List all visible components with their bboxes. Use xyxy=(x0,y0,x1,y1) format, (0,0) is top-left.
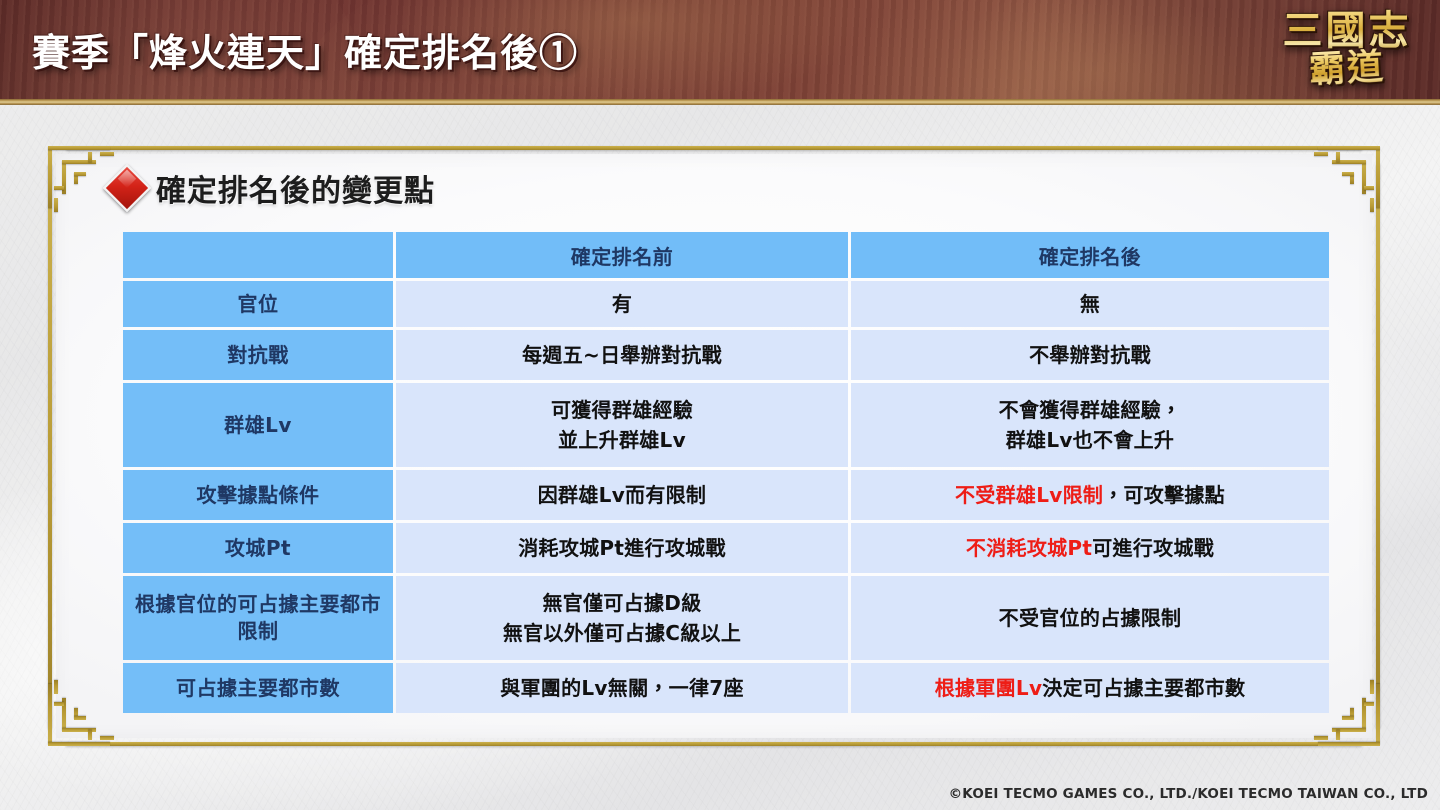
red-diamond-icon xyxy=(103,164,151,212)
row-label-line: 可占據主要都市限制 xyxy=(238,592,382,643)
row-after-cell: 不受官位的占據限制 xyxy=(851,576,1329,660)
cell-text: 因群雄Lv而有限制 xyxy=(538,483,706,507)
cell-line: 不受官位的占據限制 xyxy=(857,603,1323,633)
cell-text: 可進行攻城戰 xyxy=(1092,536,1214,560)
row-after-cell: 不受群雄Lv限制，可攻擊據點 xyxy=(851,470,1329,520)
cell-text: 不舉辦對抗戰 xyxy=(1029,343,1151,367)
cell-text: ，可攻擊據點 xyxy=(1103,483,1225,507)
cell-text: 不會獲得群雄經驗， xyxy=(999,398,1182,422)
banner-texture-swirl xyxy=(820,0,1200,104)
frame-border-right xyxy=(1376,164,1380,728)
cell-line: 與軍團的Lv無關，一律7座 xyxy=(402,673,842,703)
table-row: 官位有無 xyxy=(123,281,1329,327)
highlighted-text: 根據軍團Lv xyxy=(935,676,1043,700)
row-label-cell: 群雄Lv xyxy=(123,383,393,467)
cell-text: 有 xyxy=(612,292,632,316)
cell-line: 不會獲得群雄經驗， xyxy=(857,395,1323,425)
table-header-cell-after: 確定排名後 xyxy=(851,232,1329,278)
cell-line: 有 xyxy=(402,289,842,319)
cell-line: 群雄Lv也不會上升 xyxy=(857,425,1323,455)
table-body: 官位有無對抗戰每週五~日舉辦對抗戰不舉辦對抗戰群雄Lv可獲得群雄經驗並上升群雄L… xyxy=(123,281,1329,713)
table-row: 可占據主要都市數與軍團的Lv無關，一律7座根據軍團Lv決定可占據主要都市數 xyxy=(123,663,1329,713)
row-before-cell: 消耗攻城Pt進行攻城戰 xyxy=(396,523,848,573)
row-label-line: 根據官位的 xyxy=(135,592,238,616)
row-after-cell: 不消耗攻城Pt可進行攻城戰 xyxy=(851,523,1329,573)
section-heading: 確定排名後的變更點 xyxy=(110,166,435,210)
row-after-cell: 無 xyxy=(851,281,1329,327)
cell-text: 群雄Lv也不會上升 xyxy=(1006,428,1174,452)
row-label-cell: 攻擊據點條件 xyxy=(123,470,393,520)
row-before-cell: 可獲得群雄經驗並上升群雄Lv xyxy=(396,383,848,467)
cell-text: 與軍團的Lv無關，一律7座 xyxy=(500,676,744,700)
row-before-cell: 無官僅可占據D級無官以外僅可占據C級以上 xyxy=(396,576,848,660)
row-after-cell: 不會獲得群雄經驗，群雄Lv也不會上升 xyxy=(851,383,1329,467)
cell-line: 不消耗攻城Pt可進行攻城戰 xyxy=(857,533,1323,563)
row-after-cell: 根據軍團Lv決定可占據主要都市數 xyxy=(851,663,1329,713)
page-title: 賽季「烽火連天」確定排名後① xyxy=(32,22,578,77)
table-header-row: 確定排名前 確定排名後 xyxy=(123,232,1329,278)
cell-line: 不舉辦對抗戰 xyxy=(857,340,1323,370)
table-row: 攻擊據點條件因群雄Lv而有限制不受群雄Lv限制，可攻擊據點 xyxy=(123,470,1329,520)
cell-line: 可獲得群雄經驗 xyxy=(402,395,842,425)
table-row: 對抗戰每週五~日舉辦對抗戰不舉辦對抗戰 xyxy=(123,330,1329,380)
cell-text: 可獲得群雄經驗 xyxy=(551,398,693,422)
cell-line: 根據軍團Lv決定可占據主要都市數 xyxy=(857,673,1323,703)
cell-text: 無官僅可占據D級 xyxy=(542,591,701,615)
table-head: 確定排名前 確定排名後 xyxy=(123,232,1329,278)
row-label-cell: 對抗戰 xyxy=(123,330,393,380)
highlighted-text: 不消耗攻城Pt xyxy=(966,536,1092,560)
brand-logo-sub-text: 霸道 xyxy=(1271,46,1423,90)
comparison-table: 確定排名前 確定排名後 官位有無對抗戰每週五~日舉辦對抗戰不舉辦對抗戰群雄Lv可… xyxy=(120,229,1332,716)
cell-line: 並上升群雄Lv xyxy=(402,425,842,455)
corner-ornament-bottom-left xyxy=(48,680,124,746)
header-gold-divider xyxy=(0,99,1440,105)
row-before-cell: 有 xyxy=(396,281,848,327)
corner-ornament-top-right xyxy=(1304,146,1380,212)
slide-root: 賽季「烽火連天」確定排名後① 三國志 霸道 xyxy=(0,0,1440,810)
cell-text: 決定可占據主要都市數 xyxy=(1042,676,1245,700)
table-row: 根據官位的可占據主要都市限制無官僅可占據D級無官以外僅可占據C級以上不受官位的占… xyxy=(123,576,1329,660)
row-before-cell: 因群雄Lv而有限制 xyxy=(396,470,848,520)
table-header-cell-blank xyxy=(123,232,393,278)
cell-line: 因群雄Lv而有限制 xyxy=(402,480,842,510)
section-heading-label: 確定排名後的變更點 xyxy=(156,166,435,210)
cell-line: 每週五~日舉辦對抗戰 xyxy=(402,340,842,370)
frame-border-left xyxy=(48,164,52,728)
copyright-notice: ©KOEI TECMO GAMES CO., LTD./KOEI TECMO T… xyxy=(949,786,1428,802)
row-before-cell: 與軍團的Lv無關，一律7座 xyxy=(396,663,848,713)
row-label-cell: 根據官位的可占據主要都市限制 xyxy=(123,576,393,660)
cell-text: 每週五~日舉辦對抗戰 xyxy=(522,343,722,367)
brand-logo-main-text: 三國志 xyxy=(1272,2,1422,52)
table-row: 群雄Lv可獲得群雄經驗並上升群雄Lv不會獲得群雄經驗，群雄Lv也不會上升 xyxy=(123,383,1329,467)
brand-logo: 三國志 霸道 xyxy=(1272,2,1422,128)
row-label-cell: 攻城Pt xyxy=(123,523,393,573)
frame-border-top xyxy=(66,146,1362,150)
cell-line: 消耗攻城Pt進行攻城戰 xyxy=(402,533,842,563)
cell-text: 無官以外僅可占據C級以上 xyxy=(503,621,741,645)
row-label-cell: 可占據主要都市數 xyxy=(123,663,393,713)
row-after-cell: 不舉辦對抗戰 xyxy=(851,330,1329,380)
table-row: 攻城Pt消耗攻城Pt進行攻城戰不消耗攻城Pt可進行攻城戰 xyxy=(123,523,1329,573)
cell-text: 消耗攻城Pt進行攻城戰 xyxy=(518,536,726,560)
cell-line: 無官僅可占據D級 xyxy=(402,588,842,618)
cell-text: 不受官位的占據限制 xyxy=(999,606,1182,630)
cell-line: 無官以外僅可占據C級以上 xyxy=(402,618,842,648)
frame-border-bottom xyxy=(66,742,1362,746)
table-header-cell-before: 確定排名前 xyxy=(396,232,848,278)
cell-text: 並上升群雄Lv xyxy=(558,428,686,452)
highlighted-text: 不受群雄Lv限制 xyxy=(955,483,1103,507)
cell-text: 無 xyxy=(1080,292,1100,316)
cell-line: 不受群雄Lv限制，可攻擊據點 xyxy=(857,480,1323,510)
row-label-cell: 官位 xyxy=(123,281,393,327)
row-before-cell: 每週五~日舉辦對抗戰 xyxy=(396,330,848,380)
cell-line: 無 xyxy=(857,289,1323,319)
